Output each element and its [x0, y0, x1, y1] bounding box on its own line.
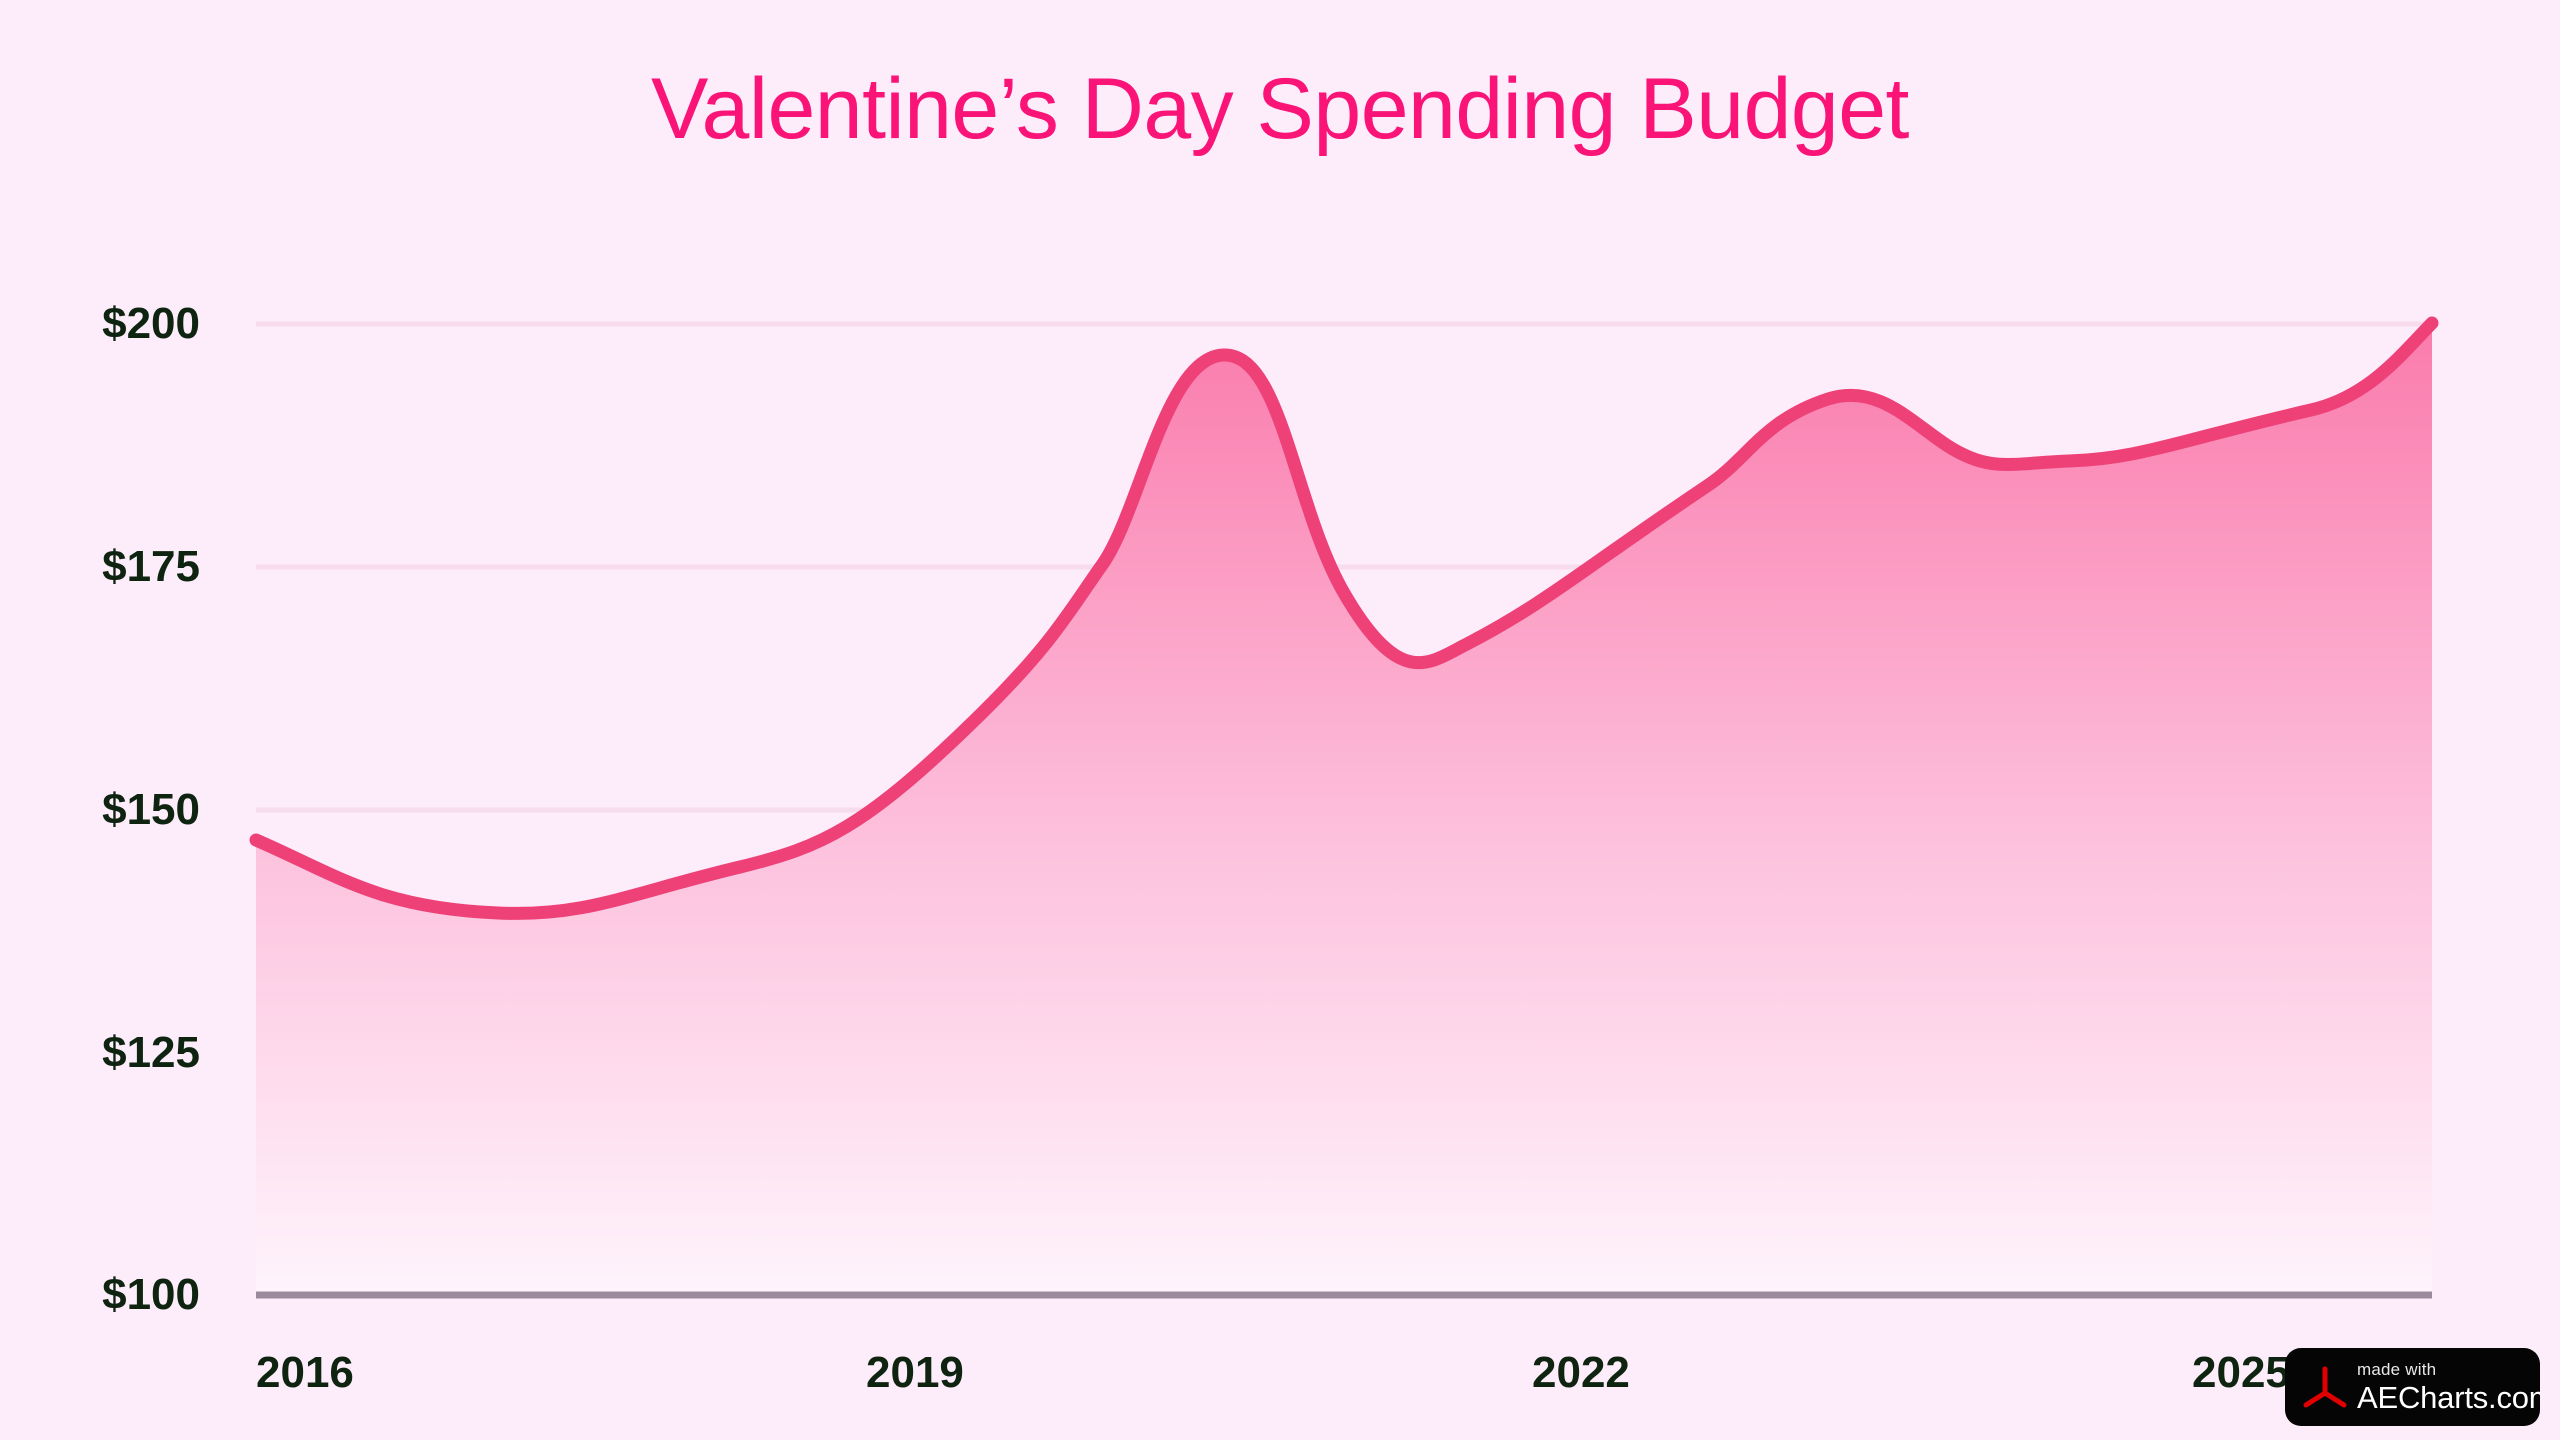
- watermark-domain-label: AECharts.com: [2357, 1382, 2540, 1413]
- x-axis-tick-2019: 2019: [866, 1348, 964, 1398]
- aecharts-watermark-badge[interactable]: made with AECharts.com: [2285, 1348, 2540, 1426]
- chart-canvas: Valentine’s Day Spending Budget $200 $17…: [0, 0, 2560, 1440]
- watermark-made-with-label: made with: [2357, 1361, 2540, 1378]
- y-axis-tick-125: $125: [102, 1028, 200, 1078]
- x-axis-tick-2025: 2025: [2192, 1348, 2290, 1398]
- watermark-text: made with AECharts.com: [2357, 1361, 2540, 1413]
- y-axis-tick-175: $175: [102, 542, 200, 592]
- x-axis-tick-2016: 2016: [256, 1348, 354, 1398]
- y-axis-tick-200: $200: [102, 299, 200, 349]
- area-chart-plot: [0, 0, 2560, 1440]
- x-axis-tick-2022: 2022: [1532, 1348, 1630, 1398]
- aecharts-logo-icon: [2299, 1361, 2351, 1413]
- y-axis-tick-100: $100: [102, 1270, 200, 1320]
- y-axis-tick-150: $150: [102, 785, 200, 835]
